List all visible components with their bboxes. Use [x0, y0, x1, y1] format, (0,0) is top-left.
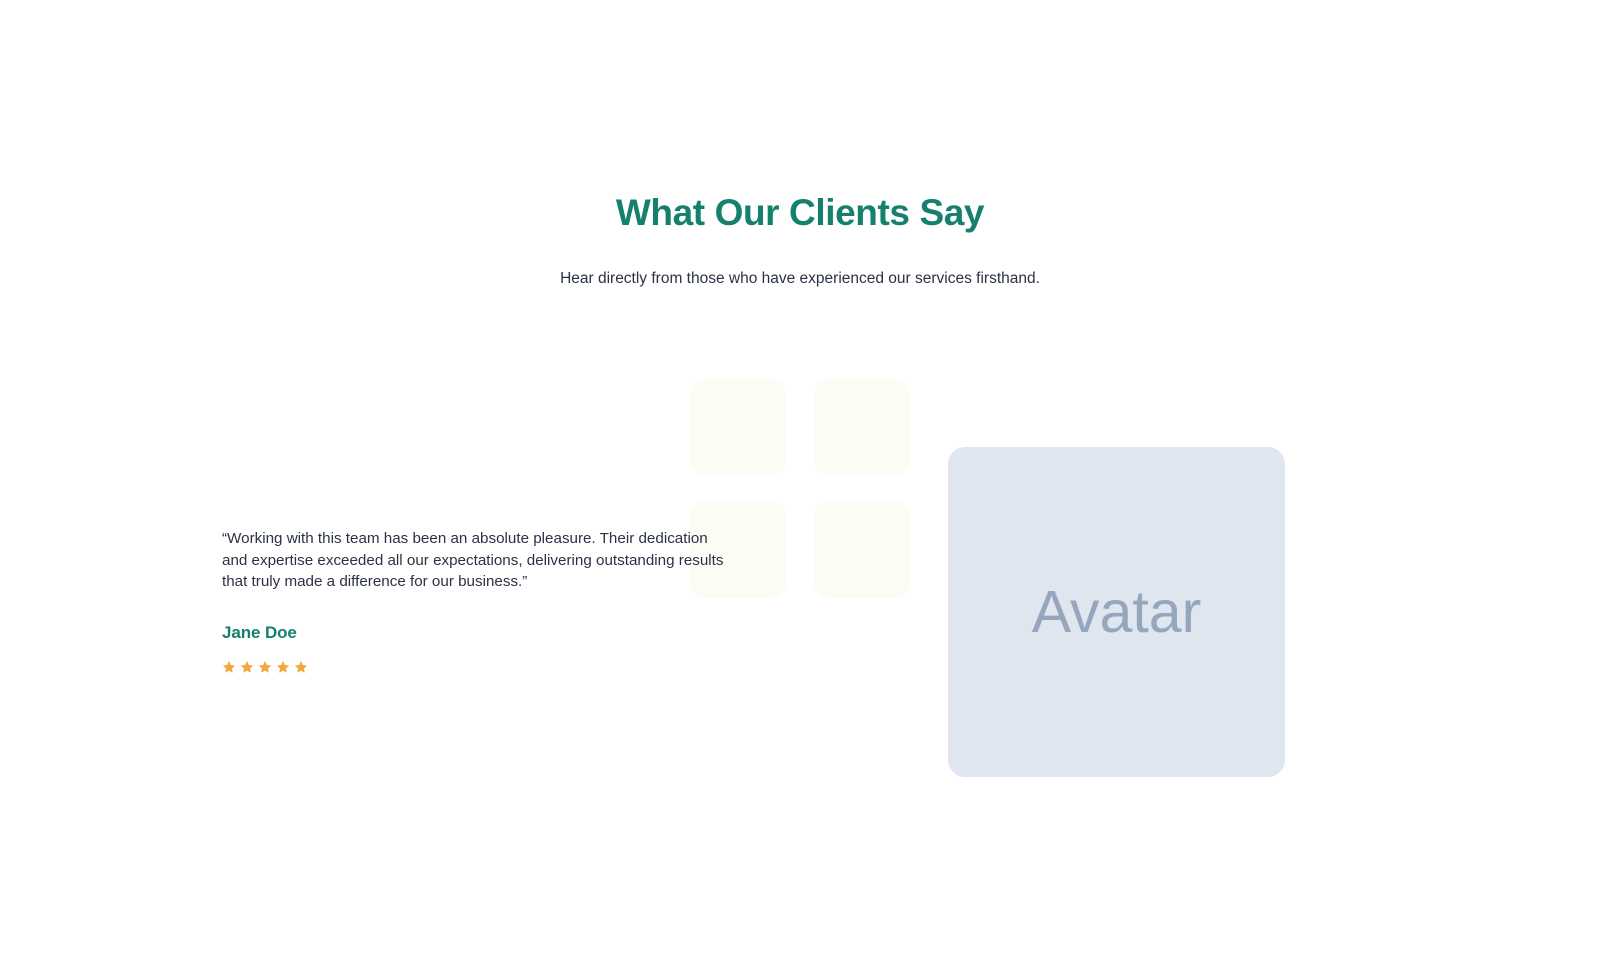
star-rating: [222, 644, 734, 674]
star-icon: [276, 660, 290, 674]
section-subtitle: Hear directly from those who have experi…: [0, 236, 1600, 290]
star-icon: [258, 660, 272, 674]
testimonial-author-name: Jane Doe: [222, 593, 734, 644]
decor-tile-2: [813, 379, 910, 476]
section-header: What Our Clients Say Hear directly from …: [0, 190, 1600, 291]
page-title: What Our Clients Say: [0, 190, 1600, 236]
testimonial-quote: “Working with this team has been an abso…: [222, 528, 734, 593]
testimonial-section: What Our Clients Say Hear directly from …: [0, 0, 1600, 978]
decor-tile-1: [690, 379, 787, 476]
star-icon: [294, 660, 308, 674]
avatar-placeholder-label: Avatar: [1032, 583, 1201, 642]
testimonial-card: “Working with this team has been an abso…: [222, 528, 734, 674]
decor-tile-4: [813, 501, 910, 598]
star-icon: [240, 660, 254, 674]
avatar: Avatar: [948, 447, 1285, 777]
star-icon: [222, 660, 236, 674]
